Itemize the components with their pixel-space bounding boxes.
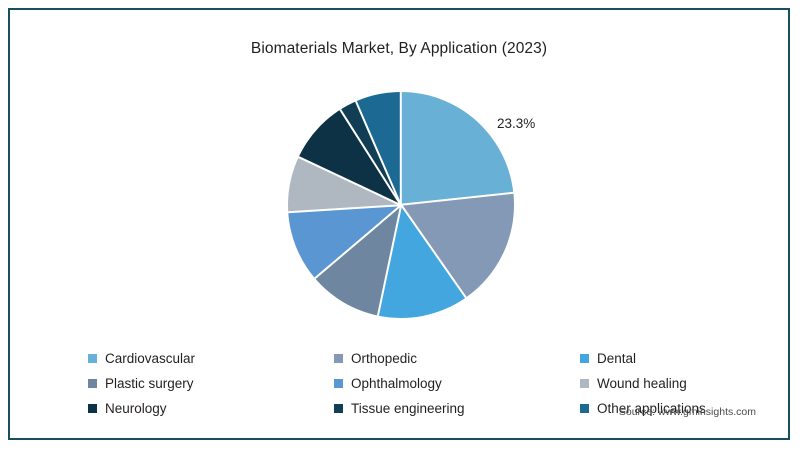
legend-item-label: Tissue engineering xyxy=(351,401,465,416)
legend-swatch-icon xyxy=(334,404,343,413)
legend-row: Plastic surgeryOphthalmologyWound healin… xyxy=(88,376,738,391)
legend-item-wound-healing[interactable]: Wound healing xyxy=(580,376,687,391)
legend-item-label: Dental xyxy=(597,351,636,366)
legend-item-ophthalmology[interactable]: Ophthalmology xyxy=(334,376,580,391)
legend-item-neurology[interactable]: Neurology xyxy=(88,401,334,416)
legend-item-orthopedic[interactable]: Orthopedic xyxy=(334,351,580,366)
legend-item-label: Neurology xyxy=(105,401,167,416)
legend-item-label: Wound healing xyxy=(597,376,687,391)
legend-swatch-icon xyxy=(580,404,589,413)
legend-item-label: Cardiovascular xyxy=(105,351,195,366)
legend-swatch-icon xyxy=(580,379,589,388)
legend-item-dental[interactable]: Dental xyxy=(580,351,636,366)
legend-item-label: Plastic surgery xyxy=(105,376,194,391)
pie-chart xyxy=(288,92,514,318)
source-note: Source: www.gminsights.com xyxy=(619,406,756,418)
page-title: Biomaterials Market, By Application (202… xyxy=(10,40,788,58)
legend-item-label: Ophthalmology xyxy=(351,376,442,391)
legend-swatch-icon xyxy=(88,379,97,388)
pie-graphic[interactable] xyxy=(288,92,514,318)
legend-item-cardiovascular[interactable]: Cardiovascular xyxy=(88,351,334,366)
legend-row: CardiovascularOrthopedicDental xyxy=(88,351,738,366)
legend-swatch-icon xyxy=(334,354,343,363)
legend-swatch-icon xyxy=(580,354,589,363)
chart-card: Biomaterials Market, By Application (202… xyxy=(8,8,790,440)
legend-swatch-icon xyxy=(88,354,97,363)
legend-swatch-icon xyxy=(334,379,343,388)
legend-item-plastic-surgery[interactable]: Plastic surgery xyxy=(88,376,334,391)
data-label-cardiovascular: 23.3% xyxy=(497,116,535,131)
legend-swatch-icon xyxy=(88,404,97,413)
legend-item-label: Orthopedic xyxy=(351,351,417,366)
legend-item-tissue-engineering[interactable]: Tissue engineering xyxy=(334,401,580,416)
